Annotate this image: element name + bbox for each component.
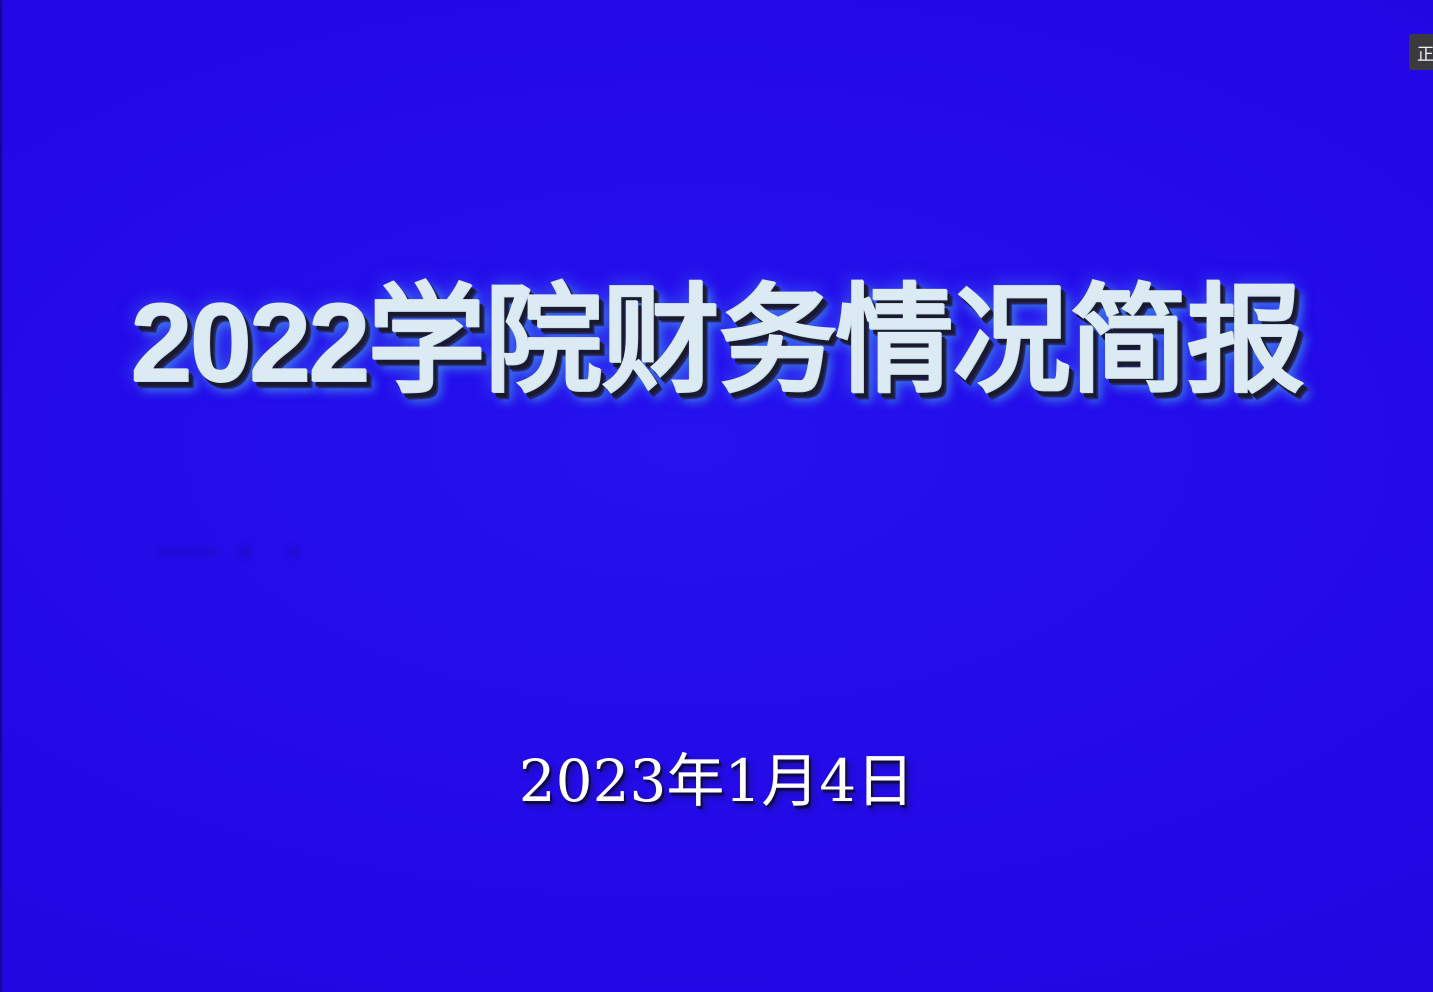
slide-title: 2022学院财务情况简报 <box>0 281 1433 399</box>
slide-background <box>0 0 1433 992</box>
capture-artifact <box>238 545 252 559</box>
capture-artifact <box>288 546 300 558</box>
left-edge-strip <box>0 0 3 992</box>
status-badge[interactable]: 正 <box>1409 34 1433 70</box>
presentation-screen: 2022学院财务情况简报 2023年1月4日 正 <box>0 0 1433 992</box>
status-badge-label: 正 <box>1417 40 1433 65</box>
slide-title-year: 2022 <box>130 287 367 399</box>
slide-date: 2023年1月4日 <box>0 752 1433 810</box>
slide-title-body: 学院财务情况简报 <box>367 281 1303 399</box>
capture-artifact <box>158 547 216 557</box>
slide-date-text: 2023年1月4日 <box>519 752 914 810</box>
